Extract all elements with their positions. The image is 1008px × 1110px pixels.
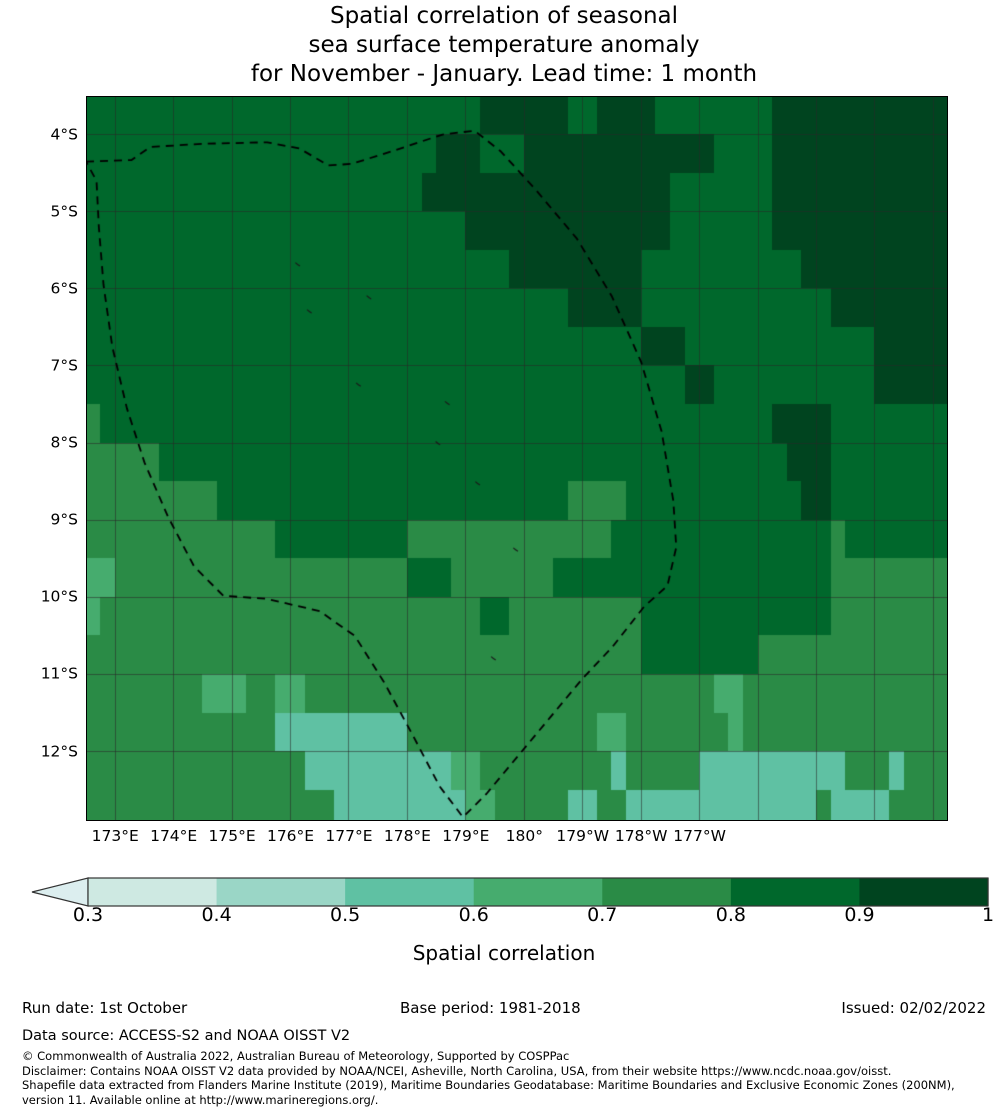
x-tick-label: 179°W: [556, 826, 609, 846]
x-tick-label: 176°E: [267, 826, 314, 846]
x-tick-label: 173°E: [92, 826, 139, 846]
map-plot: [86, 96, 948, 821]
correlation-heatmap-canvas: [86, 96, 948, 821]
page-title: Spatial correlation of seasonal sea surf…: [0, 2, 1008, 89]
colorbar-tick-label: 0.8: [716, 904, 746, 926]
colorbar-segment: [474, 878, 603, 906]
x-tick-label: 178°E: [384, 826, 431, 846]
y-tick-label: 11°S: [2, 667, 78, 683]
y-tick-label: 8°S: [2, 435, 78, 451]
colorbar-segment: [859, 878, 988, 906]
run-date: Run date: 1st October: [22, 998, 187, 1018]
y-axis-ticks: 4°S5°S6°S7°S8°S9°S10°S11°S12°S: [0, 96, 78, 821]
colorbar-segment: [88, 878, 217, 906]
footer-disclaimer: Disclaimer: Contains NOAA OISST V2 data …: [22, 1064, 1002, 1079]
x-tick-label: 174°E: [150, 826, 197, 846]
colorbar-tick-label: 0.4: [201, 904, 231, 926]
colorbar-segment: [345, 878, 474, 906]
colorbar-tick-label: 1: [982, 904, 994, 926]
colorbar-extend-min: [32, 878, 88, 906]
footer-data-source: Data source: ACCESS-S2 and NOAA OISST V2: [22, 1027, 1002, 1046]
colorbar-label: Spatial correlation: [0, 941, 1008, 965]
colorbar-tick-label: 0.5: [330, 904, 360, 926]
footer-copyright: © Commonwealth of Australia 2022, Austra…: [22, 1049, 1002, 1064]
issued-date: Issued: 02/02/2022: [841, 998, 986, 1018]
x-axis-ticks: 173°E174°E175°E176°E177°E178°E179°E180°1…: [86, 826, 948, 852]
colorbar-segment: [731, 878, 860, 906]
figure-root: Spatial correlation of seasonal sea surf…: [0, 0, 1008, 1110]
x-tick-label: 178°W: [615, 826, 668, 846]
footer-shapefile: Shapefile data extracted from Flanders M…: [22, 1078, 1002, 1093]
y-tick-label: 9°S: [2, 512, 78, 528]
colorbar-tick-label: 0.9: [844, 904, 874, 926]
y-tick-label: 12°S: [2, 744, 78, 760]
x-tick-label: 175°E: [209, 826, 256, 846]
colorbar-segment: [217, 878, 346, 906]
x-tick-label: 179°E: [442, 826, 489, 846]
footer: Data source: ACCESS-S2 and NOAA OISST V2…: [22, 1027, 1002, 1107]
y-tick-label: 6°S: [2, 281, 78, 297]
footer-version: version 11. Available online at http://w…: [22, 1093, 1002, 1108]
base-period: Base period: 1981-2018: [400, 998, 581, 1018]
x-tick-label: 177°W: [673, 826, 726, 846]
y-tick-label: 10°S: [2, 590, 78, 606]
y-tick-label: 7°S: [2, 358, 78, 374]
metadata-row: Run date: 1st October Base period: 1981-…: [0, 998, 1008, 1020]
colorbar-segment: [602, 878, 731, 906]
x-tick-label: 180°: [506, 826, 543, 846]
colorbar: 0.30.40.50.60.70.80.91: [0, 872, 1008, 944]
y-tick-label: 5°S: [2, 204, 78, 220]
colorbar-tick-label: 0.7: [587, 904, 617, 926]
colorbar-tick-label: 0.6: [459, 904, 489, 926]
y-tick-label: 4°S: [2, 127, 78, 143]
x-tick-label: 177°E: [325, 826, 372, 846]
colorbar-tick-label: 0.3: [73, 904, 103, 926]
